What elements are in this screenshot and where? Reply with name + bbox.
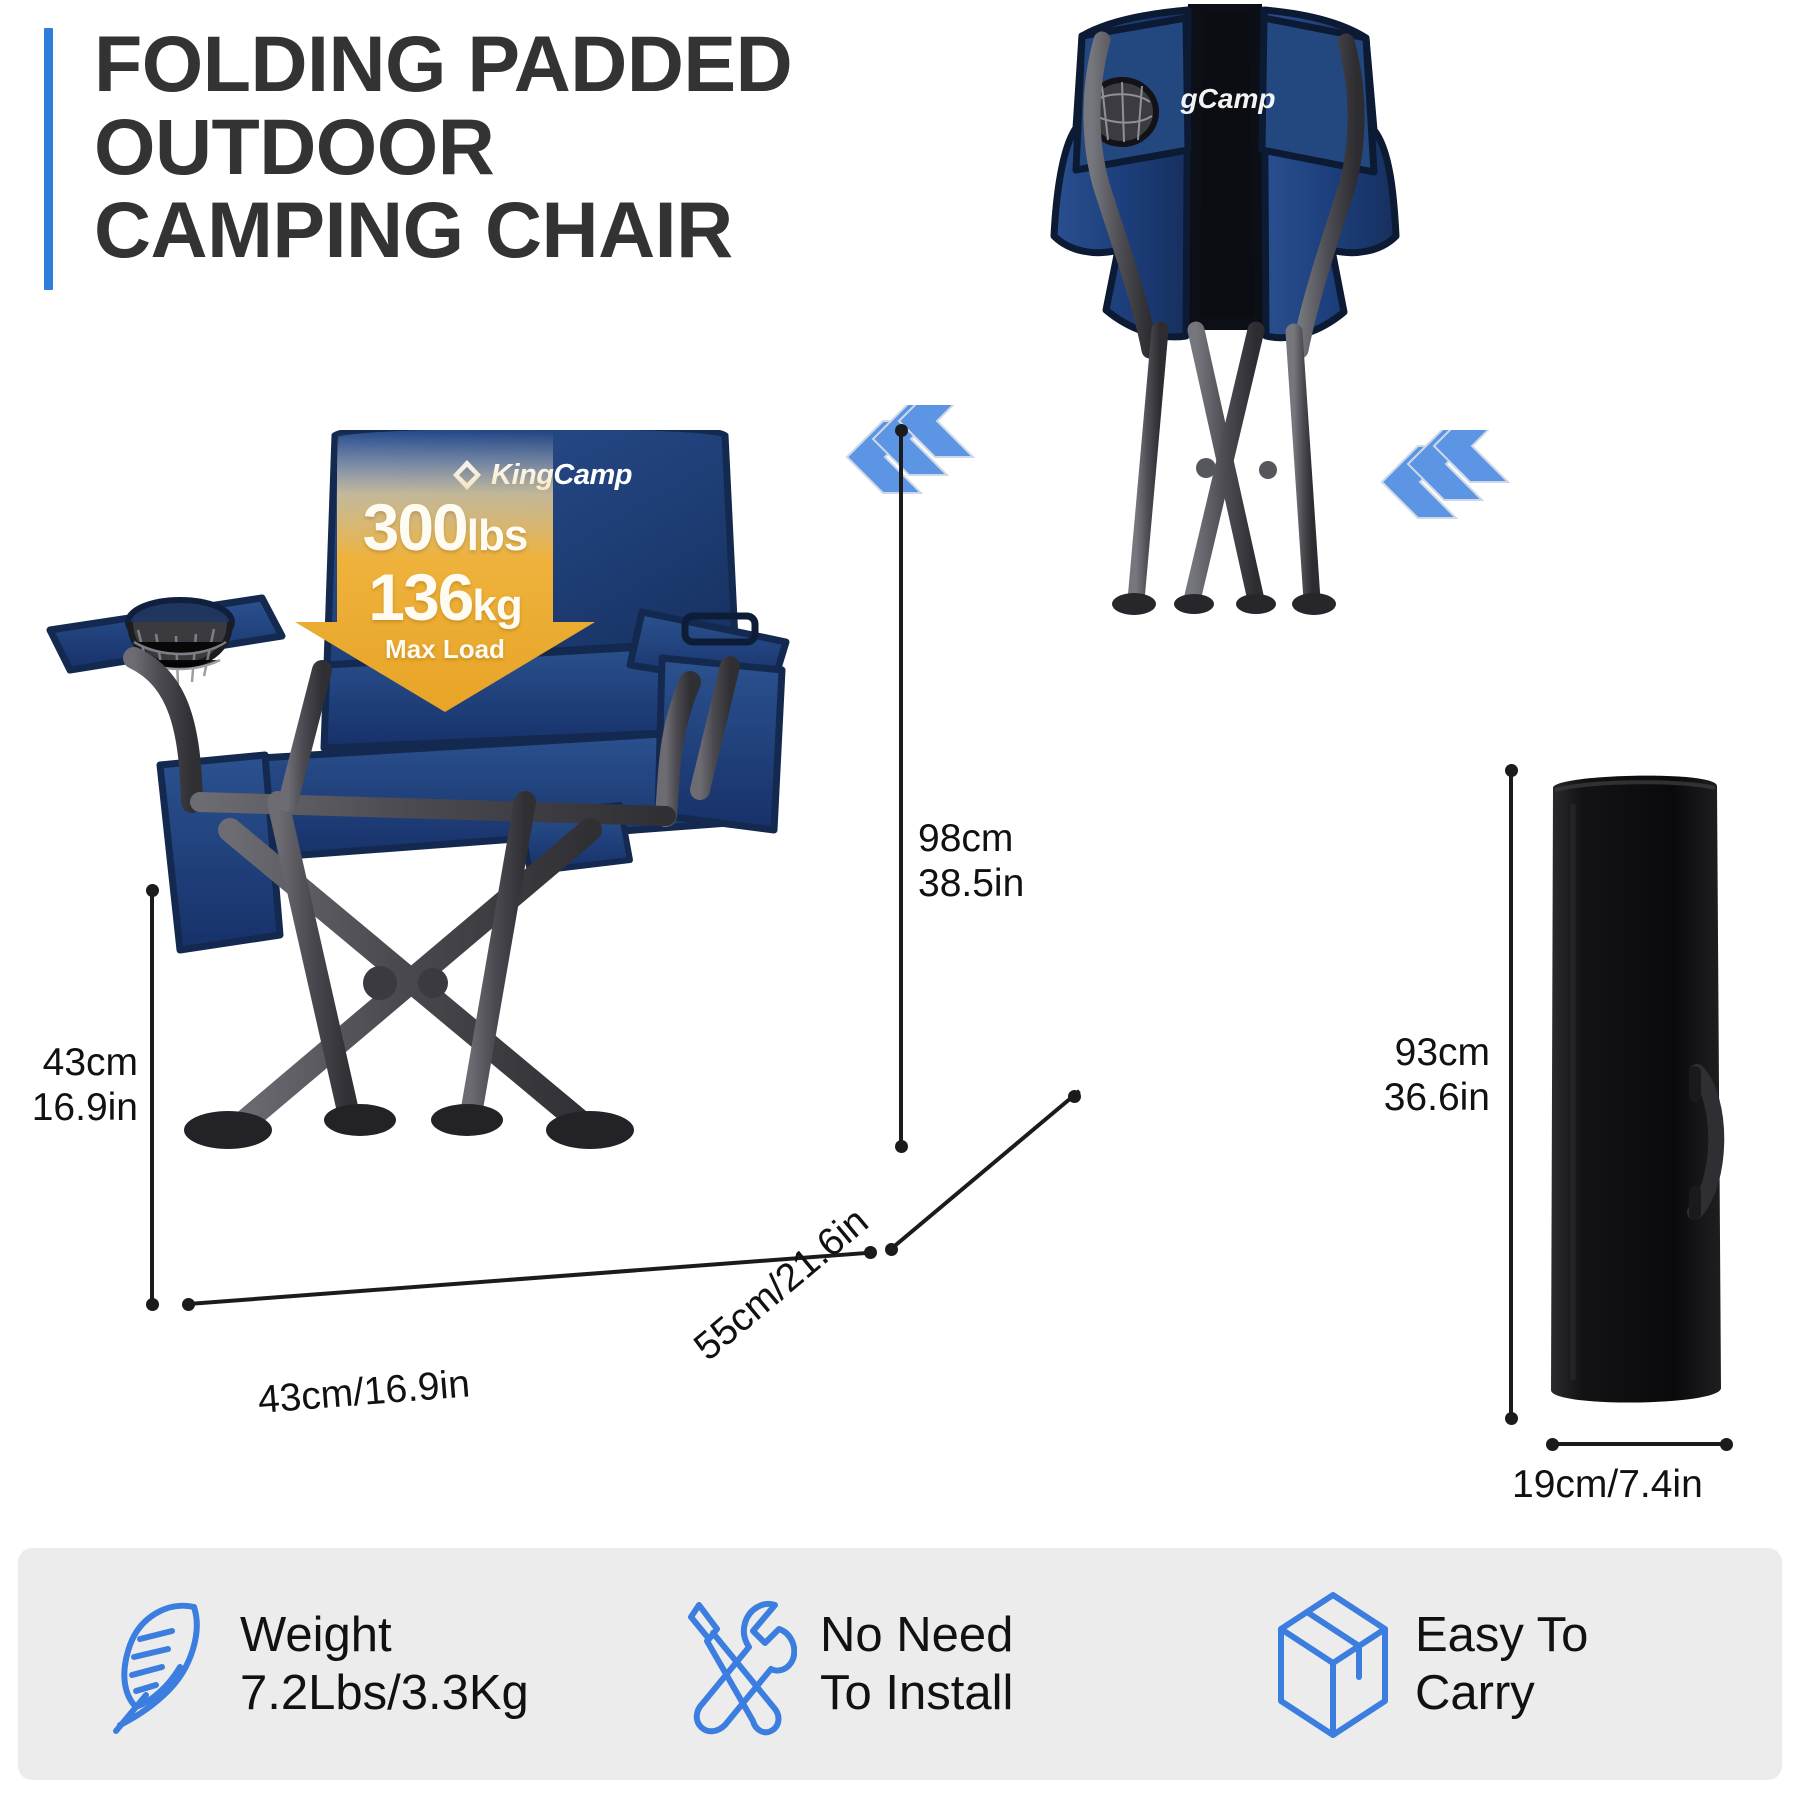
dimline-bag-width <box>1552 1442 1726 1446</box>
feature-item-weight: Weight 7.2Lbs/3.3Kg <box>98 1582 529 1746</box>
feather-icon <box>98 1589 218 1739</box>
tools-icon <box>678 1589 798 1739</box>
carry-bag-illustration <box>1545 760 1725 1420</box>
feature-bar: Weight 7.2Lbs/3.3Kg No Need To Install <box>18 1548 1782 1780</box>
feature-item-no-install: No Need To Install <box>678 1582 1013 1746</box>
svg-text:gCamp: gCamp <box>1180 83 1276 114</box>
dimdot-chair-width-right <box>864 1246 877 1259</box>
dim-bag-width: 19cm/7.4in <box>1512 1462 1703 1507</box>
feature-label-no-install: No Need To Install <box>820 1606 1013 1722</box>
dimdot-chair-height-bottom <box>895 1140 908 1153</box>
dim-seat-height: 43cm 16.9in <box>20 1040 138 1130</box>
page-title: FOLDING PADDED OUTDOOR CAMPING CHAIR <box>94 22 792 271</box>
max-load-kg: 136kg <box>295 564 595 639</box>
dimdot-chair-height-top <box>895 424 908 437</box>
dimdot-seat-height-top <box>146 884 159 897</box>
dimdot-bag-width-right <box>1720 1438 1733 1451</box>
dim-chair-height: 98cm 38.5in <box>918 816 1024 906</box>
dimdot-seat-height-bottom <box>146 1298 159 1311</box>
chevron-arrows-icon <box>845 405 975 520</box>
dimline-bag-length <box>1509 770 1513 1420</box>
dimdot-bag-width-left <box>1546 1438 1559 1451</box>
max-load-caption: Max Load <box>295 636 595 662</box>
box-icon <box>1273 1589 1393 1739</box>
feature-item-easy-carry: Easy To Carry <box>1273 1582 1588 1746</box>
dimdot-chair-depth-b <box>1068 1090 1081 1103</box>
dim-chair-depth: 55cm/21.6in <box>686 1199 878 1370</box>
dimdot-bag-length-bottom <box>1505 1412 1518 1425</box>
max-load-lbs: 300lbs <box>295 494 595 569</box>
folded-chair-illustration: gCamp <box>1010 0 1430 640</box>
feature-label-easy-carry: Easy To Carry <box>1415 1606 1588 1722</box>
feature-label-weight: Weight 7.2Lbs/3.3Kg <box>240 1606 529 1722</box>
dimdot-bag-length-top <box>1505 764 1518 777</box>
dimline-chair-depth <box>890 1089 1081 1250</box>
dim-chair-width: 43cm/16.9in <box>256 1361 471 1423</box>
dimdot-chair-depth-a <box>885 1243 898 1256</box>
dim-bag-length: 93cm 36.6in <box>1360 1030 1490 1120</box>
max-load-badge: 300lbs 136kg Max Load <box>295 432 595 712</box>
infographic-canvas: FOLDING PADDED OUTDOOR CAMPING CHAIR <box>0 0 1800 1800</box>
dimline-seat-height <box>150 890 154 1306</box>
title-accent-bar <box>44 28 53 290</box>
dimdot-chair-width-left <box>182 1298 195 1311</box>
dimline-chair-height <box>899 430 903 1150</box>
